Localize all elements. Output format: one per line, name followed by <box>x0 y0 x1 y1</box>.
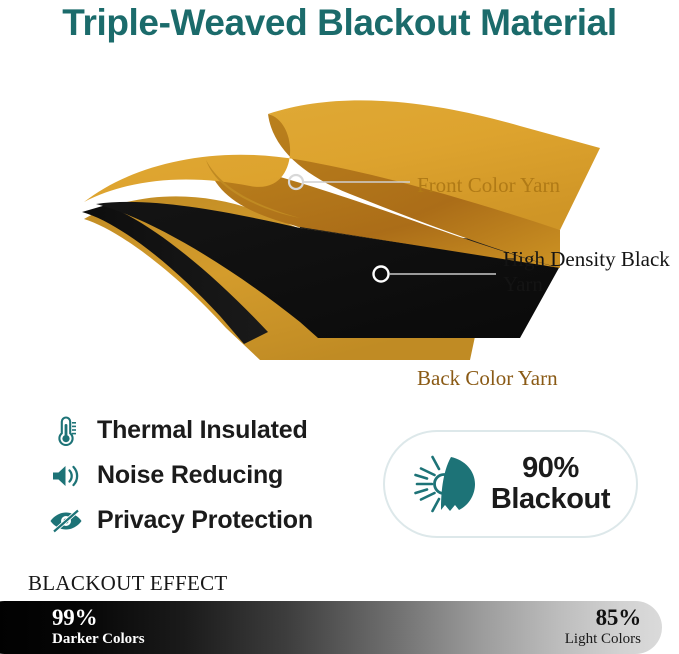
blackout-badge: 90% Blackout <box>383 430 638 538</box>
darker-colors-percent: 99% <box>52 606 97 630</box>
feature-item-privacy-protection: Privacy Protection <box>44 498 364 543</box>
feature-label-privacy-protection: Privacy Protection <box>97 506 313 535</box>
speaker-sound-icon <box>44 457 88 495</box>
page-title: Triple-Weaved Blackout Material <box>0 2 679 44</box>
feature-list: Thermal Insulated Noise Reducing Privacy… <box>44 408 364 543</box>
blackout-percent: 90% <box>522 452 579 484</box>
sun-blocked-by-curtain-icon <box>411 451 485 517</box>
blackout-effect-darker-colors: 99% Darker Colors <box>52 606 145 649</box>
callout-label-high-density-black-yarn: High Density Black Yarn <box>503 247 673 297</box>
callout-label-front-color-yarn: Front Color Yarn <box>417 173 560 198</box>
light-colors-label: Light Colors <box>565 630 641 649</box>
blackout-effect-heading: BLACKOUT EFFECT <box>28 571 228 596</box>
blackout-label: Blackout <box>491 483 610 515</box>
blackout-badge-text: 90% Blackout <box>491 453 610 515</box>
blackout-effect-light-colors: 85% Light Colors <box>565 606 641 649</box>
feature-item-noise-reducing: Noise Reducing <box>44 453 364 498</box>
fabric-layers-diagram: Front Color Yarn High Density Black Yarn… <box>0 70 679 360</box>
feature-label-thermal-insulated: Thermal Insulated <box>97 416 308 445</box>
callout-label-back-color-yarn: Back Color Yarn <box>417 366 558 391</box>
thermometer-icon <box>44 412 88 450</box>
darker-colors-label: Darker Colors <box>52 630 145 649</box>
eye-off-icon <box>44 502 88 540</box>
light-colors-percent: 85% <box>596 606 641 630</box>
feature-label-noise-reducing: Noise Reducing <box>97 461 283 490</box>
fabric-layers-svg <box>0 70 679 360</box>
feature-item-thermal-insulated: Thermal Insulated <box>44 408 364 453</box>
